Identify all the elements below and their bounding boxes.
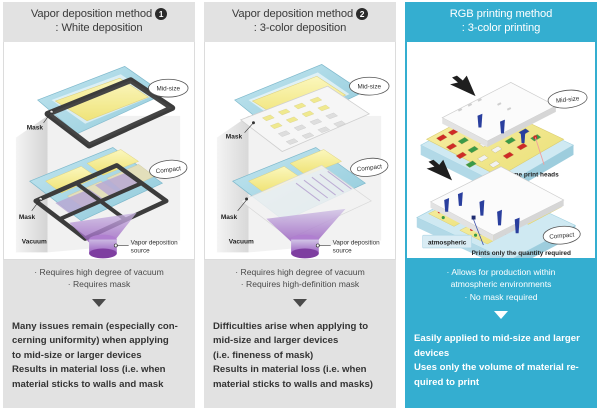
- callout-mask-bottom: Mask: [221, 213, 238, 220]
- bullet-item: · Requires high degree of vacuum: [210, 266, 390, 278]
- callout-source-l2: source: [333, 247, 352, 254]
- callout-source-l1: Vapor deposition: [131, 239, 179, 246]
- conclusion-text: Easily applied to mid-size and larger de…: [405, 329, 597, 408]
- panel-header: RGB printing method : 3-color printing: [405, 2, 597, 42]
- panel-subtitle: : 3-color deposition: [208, 21, 392, 35]
- triangle-down-icon: [92, 299, 106, 307]
- down-arrow: [204, 291, 396, 317]
- panel-header: Vapor deposition method 1 : White deposi…: [3, 2, 195, 42]
- figure-vapor-3color: Mask Mid-size: [204, 42, 396, 260]
- callout-source-l1: Vapor deposition: [333, 239, 381, 246]
- panel-title: RGB printing method: [450, 7, 553, 21]
- conclusion-line: to mid-size or larger devices: [12, 349, 186, 364]
- conclusion-line: Results in material loss (i.e. when: [213, 363, 387, 378]
- conclusion-line: Uses only the volume of material re-: [414, 361, 588, 376]
- callout-mask-top: Mask: [226, 133, 243, 140]
- direction-arrow-icon: [450, 75, 475, 96]
- triangle-down-icon: [293, 299, 307, 307]
- panel-number-badge: 1: [155, 8, 167, 20]
- callout-vacuum: Vacuum: [22, 238, 47, 245]
- figure-rgb-printing: Mid-size Same print heads: [405, 42, 597, 260]
- bullet-item: · No mask required: [411, 291, 591, 303]
- bullet-item: · Allows for production within: [411, 266, 591, 278]
- label-atmospheric: atmospheric: [428, 239, 467, 246]
- conclusion-line: Easily applied to mid-size and larger: [414, 332, 588, 347]
- down-arrow: [3, 291, 195, 317]
- conclusion-line: mid-size and larger devices: [213, 334, 387, 349]
- panel-header-line1: RGB printing method: [409, 7, 593, 21]
- callout-vacuum: Vacuum: [229, 238, 254, 245]
- panel-title: Vapor deposition method: [31, 7, 152, 21]
- panel-subtitle: : 3-color printing: [409, 21, 593, 35]
- conclusion-line: devices: [414, 347, 588, 362]
- panel-header: Vapor deposition method 2 : 3-color depo…: [204, 2, 396, 42]
- conclusion-text: Many issues remain (especially con- cern…: [3, 317, 195, 408]
- triangle-down-icon: [494, 311, 508, 319]
- label-mid-size: Mid-size: [156, 85, 180, 92]
- bullet-item: · Requires mask: [9, 278, 189, 290]
- comparison-board: Vapor deposition method 1 : White deposi…: [0, 0, 600, 412]
- conclusion-line: (i.e. fineness of mask): [213, 349, 387, 364]
- panel-subtitle: : White deposition: [7, 21, 191, 35]
- conclusion-text: Difficulties arise when applying to mid-…: [204, 317, 396, 408]
- bullet-item: · Requires high degree of vacuum: [9, 266, 189, 278]
- callout-prints-only: Prints only the quantity required: [472, 249, 571, 256]
- conclusion-line: Difficulties arise when applying to: [213, 320, 387, 335]
- panel-vapor-3color: Vapor deposition method 2 : 3-color depo…: [204, 2, 396, 408]
- bullet-item: atmospheric environments: [411, 278, 591, 290]
- conclusion-line: cerning uniformity) when applying: [12, 334, 186, 349]
- conclusion-line: quired to print: [414, 376, 588, 391]
- conclusion-line: material sticks to walls and masks): [213, 378, 387, 393]
- panel-number-badge: 2: [356, 8, 368, 20]
- label-mid-size: Mid-size: [357, 83, 381, 90]
- panel-title: Vapor deposition method: [232, 7, 353, 21]
- panel-header-line1: Vapor deposition method 2: [208, 7, 392, 21]
- bullet-list: · Requires high degree of vacuum · Requi…: [3, 260, 195, 291]
- panel-header-line1: Vapor deposition method 1: [7, 7, 191, 21]
- bullet-list: · Requires high degree of vacuum · Requi…: [204, 260, 396, 291]
- conclusion-line: Results in material loss (i.e. when: [12, 363, 186, 378]
- conclusion-line: Many issues remain (especially con-: [12, 320, 186, 335]
- bullet-list: · Allows for production within atmospher…: [405, 260, 597, 303]
- down-arrow: [405, 303, 597, 329]
- callout-mask-top: Mask: [27, 124, 44, 131]
- callout-source-l2: source: [131, 247, 150, 254]
- figure-vapor-white: Mask Mid-size: [3, 42, 195, 260]
- callout-mask-bottom: Mask: [19, 213, 36, 220]
- conclusion-line: material sticks to walls and mask: [12, 378, 186, 393]
- bullet-item: · Requires high-definition mask: [210, 278, 390, 290]
- panel-vapor-white: Vapor deposition method 1 : White deposi…: [3, 2, 195, 408]
- panel-rgb-printing: RGB printing method : 3-color printing: [405, 2, 597, 408]
